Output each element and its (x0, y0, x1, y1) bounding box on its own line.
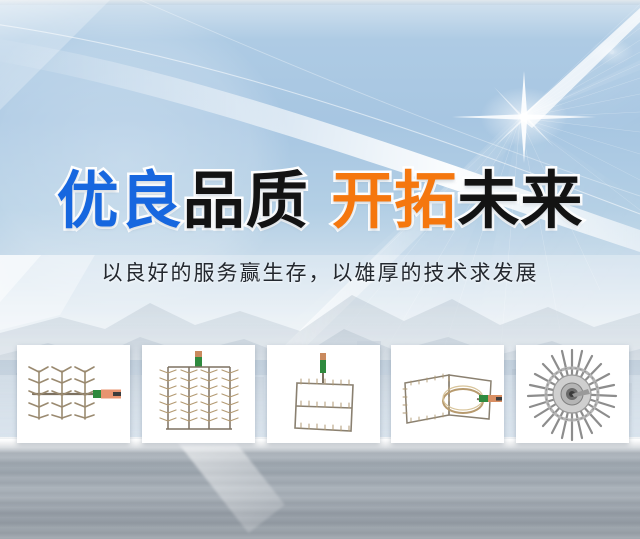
flat-panel-ring-plating-rack-icon (391, 345, 504, 443)
product-card-5[interactable] (516, 345, 629, 443)
headline-segment-3: 开拓 (331, 164, 457, 237)
radial-sunburst-plating-rack-icon (516, 345, 629, 443)
product-card-row (17, 345, 629, 443)
banner-headline: 优良品质 开拓未来 (0, 168, 640, 234)
product-card-3[interactable] (267, 345, 380, 443)
comb-style-plating-rack-icon (17, 345, 130, 443)
headline-segment-4: 未来 (457, 164, 583, 237)
product-card-1[interactable] (17, 345, 130, 443)
rectangular-frame-plating-rack-icon (267, 345, 380, 443)
headline-segment-1: 优良 (57, 164, 183, 237)
promo-banner: 优良品质 开拓未来 以良好的服务赢生存，以雄厚的技术求发展 (0, 0, 640, 539)
product-card-2[interactable] (142, 345, 255, 443)
product-card-4[interactable] (391, 345, 504, 443)
banner-subtitle: 以良好的服务赢生存，以雄厚的技术求发展 (0, 258, 640, 288)
headline-segment-2: 品质 (183, 164, 309, 237)
headline-segment-spacer (309, 164, 332, 237)
multi-row-spine-plating-rack-icon (142, 345, 255, 443)
ground-surface (0, 437, 640, 539)
